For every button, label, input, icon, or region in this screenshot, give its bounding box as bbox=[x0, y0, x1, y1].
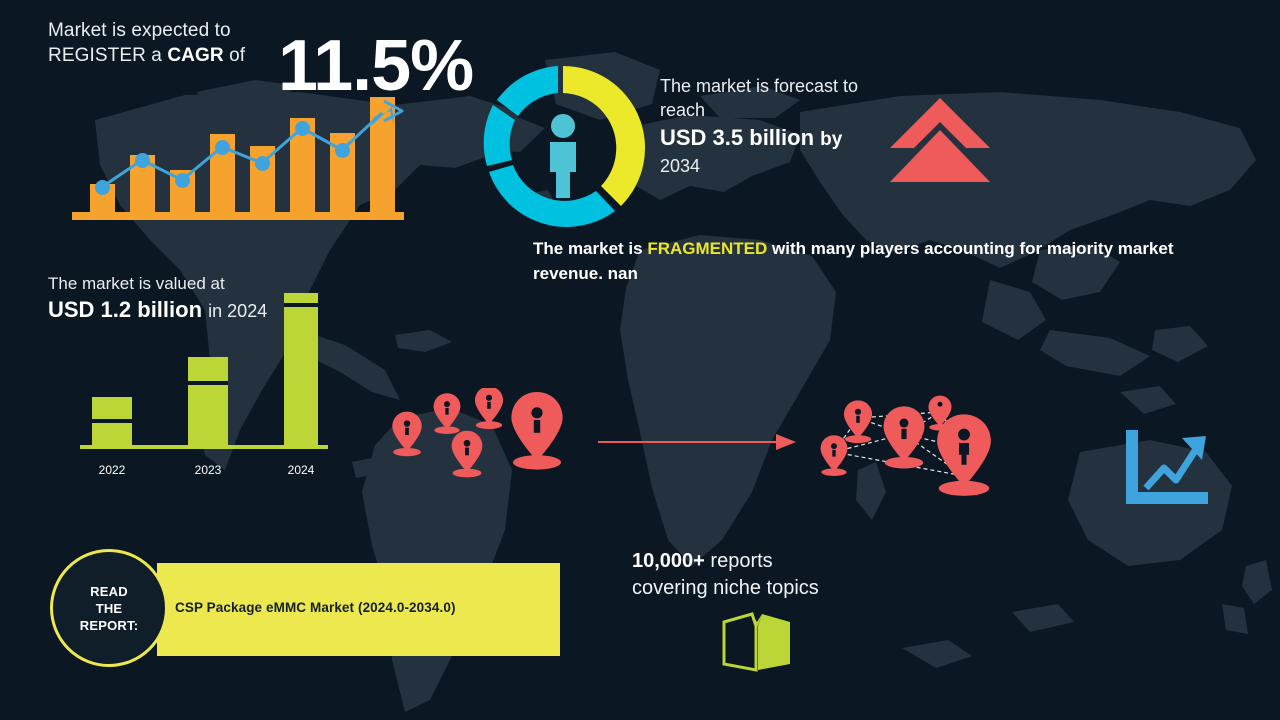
reports-line-1: 10,000+ reports bbox=[632, 548, 932, 575]
growth-bar-chart bbox=[72, 95, 407, 220]
cta-line-2: THE bbox=[96, 601, 123, 616]
market-share-donut bbox=[468, 58, 658, 238]
valuation-bar-chart: 2022 2023 2024 bbox=[80, 295, 330, 455]
read-the-report-label: READ THE REPORT: bbox=[80, 583, 138, 634]
cta-line-3: REPORT: bbox=[80, 618, 138, 633]
trend-dot-5 bbox=[255, 156, 270, 171]
cagr-block: Market is expected to REGISTER a CAGR of… bbox=[48, 18, 428, 68]
right-arrow-icon bbox=[598, 431, 798, 453]
reports-block: 10,000+ reports covering niche topics bbox=[632, 548, 932, 602]
report-title[interactable]: CSP Package eMMC Market (2024.0-2034.0) bbox=[175, 600, 505, 615]
connected-map-pins-icon bbox=[812, 390, 1007, 500]
fragmentation-keyword: FRAGMENTED bbox=[647, 239, 767, 258]
fragmentation-pre: The market is bbox=[533, 239, 647, 258]
valuation-line-1: The market is valued at bbox=[48, 272, 378, 295]
trend-line-overlay bbox=[72, 95, 407, 220]
trend-dot-4 bbox=[215, 140, 230, 155]
forecast-line-1: The market is forecast to bbox=[660, 74, 895, 98]
cagr-value: 11.5% bbox=[278, 30, 473, 102]
open-book-icon bbox=[722, 612, 792, 674]
infographic-canvas: Market is expected to REGISTER a CAGR of… bbox=[0, 0, 1280, 720]
trend-dot-2 bbox=[135, 153, 150, 168]
forecast-block: The market is forecast to reach USD 3.5 … bbox=[660, 74, 895, 178]
cagr-keyword: CAGR bbox=[167, 45, 223, 66]
green-bar-2023 bbox=[188, 357, 228, 445]
scattered-map-pins-icon bbox=[385, 388, 575, 488]
cagr-line-2-pre: REGISTER a bbox=[48, 45, 167, 66]
green-bar-2023-cap bbox=[188, 381, 228, 385]
green-bar-label-2022: 2022 bbox=[88, 463, 136, 477]
trend-dot-3 bbox=[175, 173, 190, 188]
fragmentation-block: The market is FRAGMENTED with many playe… bbox=[533, 236, 1213, 286]
forecast-by: by bbox=[820, 129, 842, 150]
green-bar-2022-cap bbox=[92, 419, 132, 423]
forecast-year: 2034 bbox=[660, 154, 895, 178]
forecast-value-row: USD 3.5 billion by bbox=[660, 124, 895, 154]
growth-chart-icon bbox=[1122, 430, 1208, 508]
green-bar-2024-cap bbox=[284, 303, 318, 307]
green-bar-label-2023: 2023 bbox=[184, 463, 232, 477]
reports-count: 10,000+ bbox=[632, 550, 705, 572]
trend-dot-7 bbox=[335, 143, 350, 158]
trend-dot-6 bbox=[295, 121, 310, 136]
cta-line-1: READ bbox=[90, 584, 128, 599]
trend-dot-1 bbox=[95, 180, 110, 195]
double-up-chevron-icon bbox=[888, 96, 992, 184]
read-the-report-badge[interactable]: READ THE REPORT: bbox=[50, 549, 168, 667]
cagr-line-2-post: of bbox=[224, 45, 245, 66]
reports-line-1-rest: reports bbox=[705, 550, 773, 572]
green-bar-2024 bbox=[284, 293, 318, 445]
green-bar-label-2024: 2024 bbox=[277, 463, 325, 477]
forecast-line-2: reach bbox=[660, 98, 895, 122]
fragmentation-text: The market is FRAGMENTED with many playe… bbox=[533, 236, 1213, 286]
forecast-value: USD 3.5 billion bbox=[660, 125, 814, 150]
reports-line-2: covering niche topics bbox=[632, 575, 932, 602]
green-chart-baseline bbox=[80, 445, 328, 449]
